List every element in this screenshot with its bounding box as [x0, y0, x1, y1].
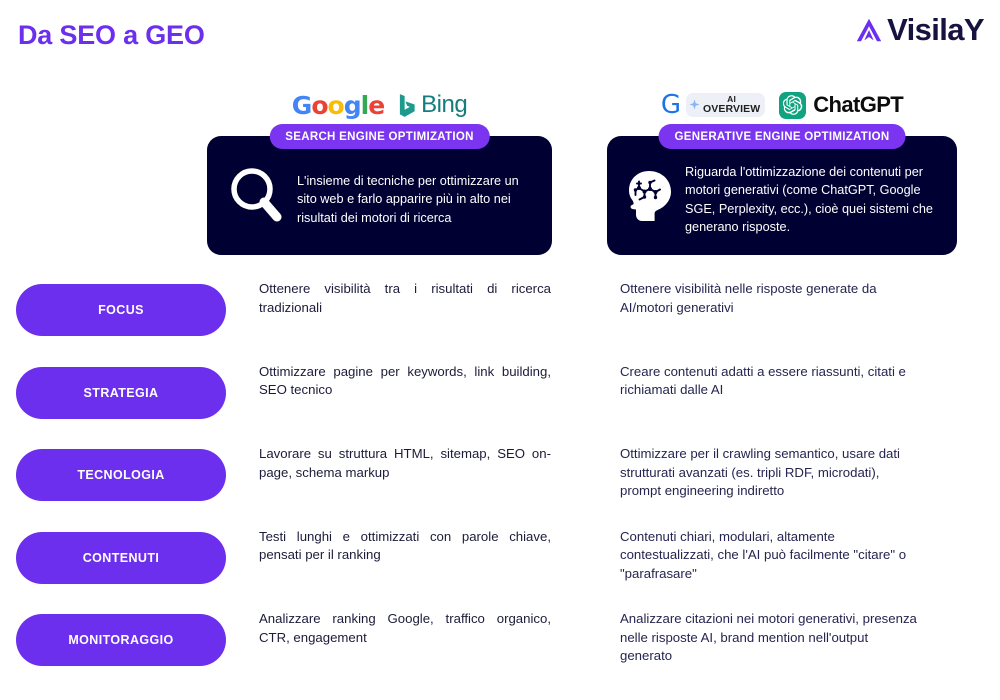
brand-logo: VisilaY [854, 14, 984, 45]
geo-engine-logos: G AI OVERVIEW ChatGPT [607, 88, 957, 122]
table-row: CONTENUTI Testi lunghi e ottimizzati con… [0, 518, 1000, 601]
table-row: MONITORAGGIO Analizzare ranking Google, … [0, 600, 1000, 683]
row-seo-text: Testi lunghi e ottimizzati con parole ch… [259, 528, 551, 565]
row-geo-text: Creare contenuti adatti a essere riassun… [620, 363, 920, 400]
chatgpt-logo: ChatGPT [779, 92, 903, 119]
row-label-tecnologia: TECNOLOGIA [16, 449, 226, 501]
bing-logo: Bing [398, 93, 467, 118]
google-g-letter: G [661, 92, 681, 118]
sparkle-icon [689, 99, 700, 110]
geo-definition-card: GENERATIVE ENGINE OPTIMIZATION Riguarda … [607, 136, 957, 255]
seo-description: L'insieme di tecniche per ottimizzare un… [293, 172, 538, 226]
brand-name: VisilaY [887, 14, 984, 45]
magnifier-icon [227, 165, 283, 227]
seo-definition-card: SEARCH ENGINE OPTIMIZATION L'insieme di … [207, 136, 552, 255]
seo-engine-logos: Google Bing [207, 88, 552, 122]
google-logo: Google [292, 93, 384, 118]
ai-head-icon [623, 169, 675, 223]
comparison-rows: FOCUS Ottenere visibilità tra i risultat… [0, 270, 1000, 683]
visilay-triangle-icon [854, 15, 884, 45]
row-seo-text: Lavorare su struttura HTML, sitemap, SEO… [259, 445, 551, 482]
row-label-monitoraggio: MONITORAGGIO [16, 614, 226, 666]
table-row: STRATEGIA Ottimizzare pagine per keyword… [0, 353, 1000, 436]
row-label-strategia: STRATEGIA [16, 367, 226, 419]
seo-badge: SEARCH ENGINE OPTIMIZATION [269, 124, 489, 149]
page-title: Da SEO a GEO [18, 20, 205, 51]
row-seo-text: Ottenere visibilità tra i risultati di r… [259, 280, 551, 317]
ai-overview-chip: AI OVERVIEW [686, 93, 765, 116]
openai-mark-icon [779, 92, 806, 119]
row-geo-text: Ottimizzare per il crawling semantico, u… [620, 445, 920, 501]
row-geo-text: Contenuti chiari, modulari, altamente co… [620, 528, 920, 584]
row-seo-text: Analizzare ranking Google, traffico orga… [259, 610, 551, 647]
google-ai-overview-logo: G AI OVERVIEW [661, 92, 765, 118]
chatgpt-label: ChatGPT [813, 94, 903, 116]
geo-badge: GENERATIVE ENGINE OPTIMIZATION [659, 124, 906, 149]
bing-mark-icon [398, 93, 417, 118]
row-label-contenuti: CONTENUTI [16, 532, 226, 584]
row-label-focus: FOCUS [16, 284, 226, 336]
table-row: TECNOLOGIA Lavorare su struttura HTML, s… [0, 435, 1000, 518]
ai-overview-line2: OVERVIEW [703, 104, 760, 115]
geo-description: Riguarda l'ottimizzazione dei contenuti … [685, 163, 943, 235]
row-seo-text: Ottimizzare pagine per keywords, link bu… [259, 363, 551, 400]
row-geo-text: Ottenere visibilità nelle risposte gener… [620, 280, 920, 317]
row-geo-text: Analizzare citazioni nei motori generati… [620, 610, 920, 666]
table-row: FOCUS Ottenere visibilità tra i risultat… [0, 270, 1000, 353]
bing-label: Bing [421, 93, 467, 117]
